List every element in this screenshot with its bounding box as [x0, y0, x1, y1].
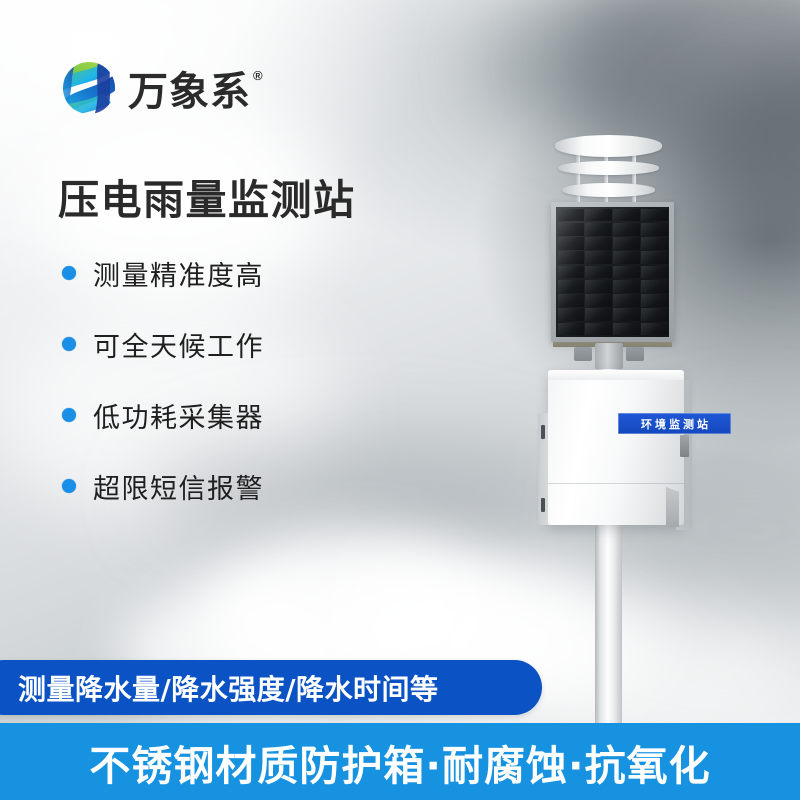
bracket-tab — [626, 347, 644, 361]
feature-list: 测量精准度高 可全天候工作 低功耗采集器 超限短信报警 — [62, 256, 392, 540]
pill-banner: 测量降水量/降水强度/降水时间等 — [0, 660, 542, 715]
brand-name: 万象系 — [128, 72, 251, 112]
feature-item: 测量精准度高 — [62, 256, 392, 290]
feature-item: 低功耗采集器 — [62, 398, 392, 432]
feature-label: 测量精准度高 — [93, 254, 264, 293]
enclosure-latch — [541, 498, 545, 512]
bullet-dot-icon — [62, 479, 76, 493]
feature-label: 超限短信报警 — [93, 467, 264, 506]
rain-gauge-sensor — [555, 135, 662, 157]
promo-banner: 环境监测站 — [0, 0, 800, 800]
solar-panel — [551, 202, 674, 342]
brand-logo: 万象系 ® — [58, 57, 263, 119]
enclosure-lid — [548, 370, 684, 380]
product-image: 环境监测站 — [490, 95, 790, 715]
bullet-dot-icon — [62, 266, 76, 280]
stainless-steel-enclosure: 环境监测站 — [548, 370, 684, 525]
mounting-bracket — [595, 343, 623, 369]
enclosure-vent — [666, 487, 679, 527]
enclosure-label-plate: 环境监测站 — [618, 413, 731, 434]
bullet-dot-icon — [62, 408, 76, 422]
bottom-banner: 不锈钢材质防护箱·耐腐蚀·抗氧化 — [0, 723, 800, 800]
mounting-pole-lower — [595, 525, 622, 755]
trademark-symbol: ® — [253, 68, 263, 83]
enclosure-hinge — [680, 435, 689, 457]
bullet-dot-icon — [62, 337, 76, 351]
feature-label: 可全天候工作 — [93, 325, 264, 364]
pill-banner-text: 测量降水量/降水强度/降水时间等 — [18, 668, 438, 708]
bracket-tab — [574, 347, 592, 361]
enclosure-latch — [541, 425, 545, 439]
enclosure-seam — [548, 483, 684, 484]
bottom-banner-text: 不锈钢材质防护箱·耐腐蚀·抗氧化 — [89, 732, 710, 792]
page-title: 压电雨量监测站 — [58, 166, 356, 226]
sensor-disc — [558, 161, 659, 175]
feature-label: 低功耗采集器 — [93, 396, 264, 435]
solar-cell-grid — [556, 207, 669, 337]
feature-item: 可全天候工作 — [62, 327, 392, 361]
swirl-globe-icon — [58, 57, 120, 119]
enclosure-label-text: 环境监测站 — [638, 416, 711, 432]
sensor-disc — [562, 183, 655, 197]
feature-item: 超限短信报警 — [62, 469, 392, 503]
